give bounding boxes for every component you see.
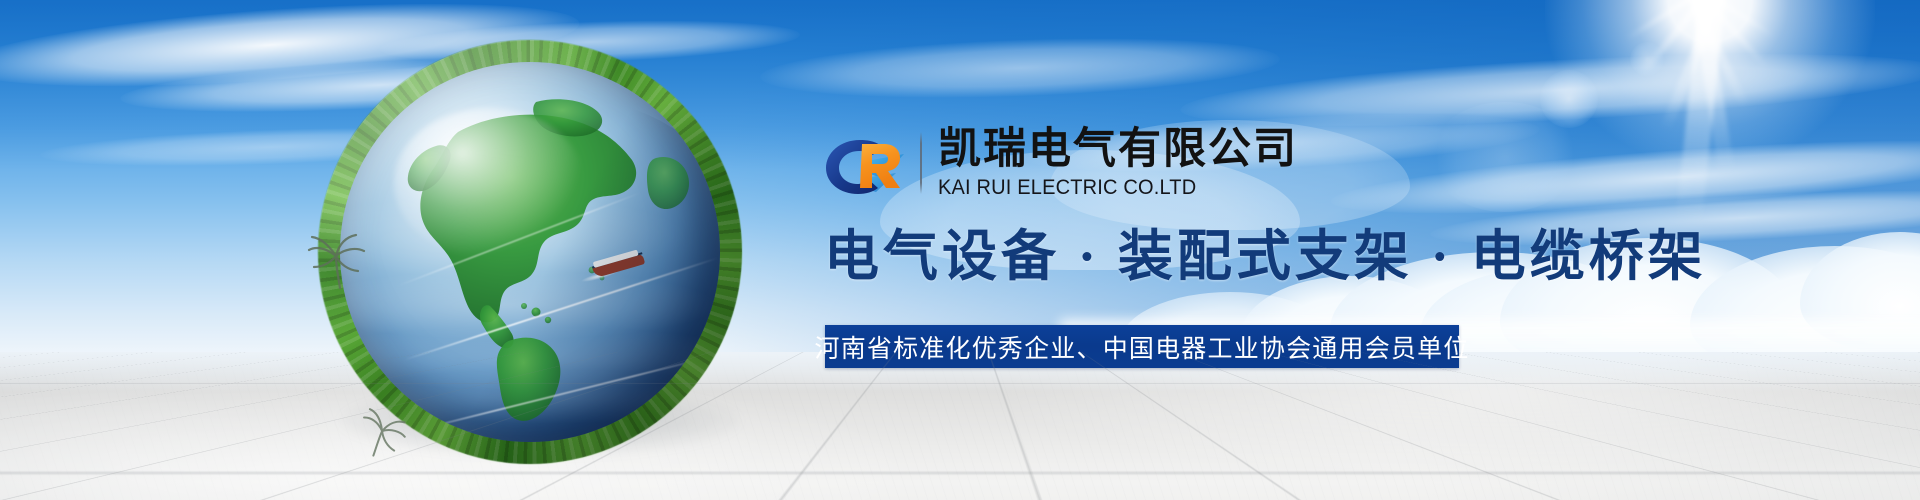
brand-names: 凯瑞电气有限公司 KAI RUI ELECTRIC CO.LTD [938,124,1298,200]
lens-flare [1630,42,1664,76]
company-name-cn: 凯瑞电气有限公司 [938,124,1298,174]
lens-flare [1540,70,1598,128]
palm-tree-icon [306,232,368,292]
promotional-banner: 凯瑞电气有限公司 KAI RUI ELECTRIC CO.LTD 电气设备 · … [0,0,1920,500]
sun-icon [1545,0,1875,165]
green-earth-globe [300,26,760,478]
main-slogan: 电气设备 · 装配式支架 · 电缆桥架 [824,224,1707,290]
globe-sphere [340,62,720,442]
company-name-en: KAI RUI ELECTRIC CO.LTD [938,174,1273,200]
credential-bar-text: 河南省标准化优秀企业、中国电器工业协会通用会员单位 [825,325,1459,368]
cr-monogram-logo-icon [820,130,906,200]
brand-lockup: 凯瑞电气有限公司 KAI RUI ELECTRIC CO.LTD [820,128,1580,212]
credential-bar: 河南省标准化优秀企业、中国电器工业协会通用会员单位 [825,325,1459,368]
plaza-pavement [0,352,1920,500]
logo-divider [920,132,922,194]
